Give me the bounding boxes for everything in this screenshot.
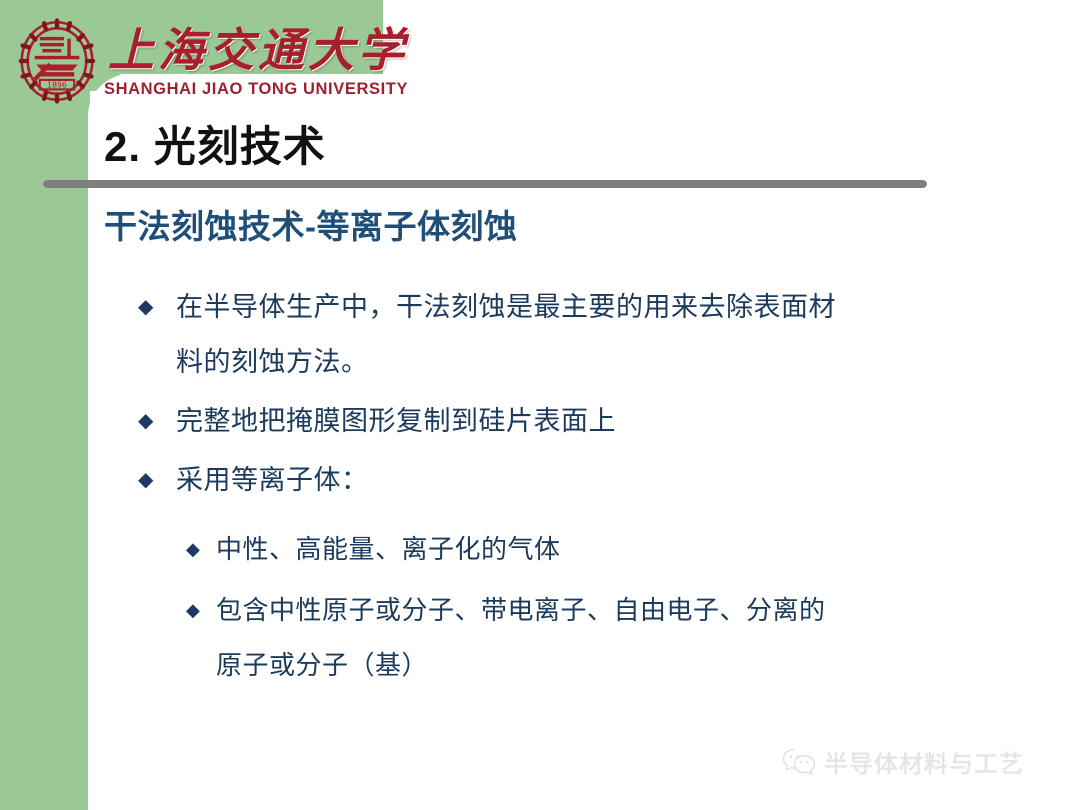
- sjtu-emblem-icon: 1896: [14, 18, 100, 104]
- presentation-slide: 1896 上海交通大学 SHANGHAI JIAO TONG UNIVERSIT…: [0, 0, 1080, 810]
- bullet-diamond-icon: ◆: [138, 394, 154, 449]
- bullet-text-line: 中性、高能量、离子化的气体: [216, 522, 966, 577]
- green-sidebar-band: [0, 0, 90, 810]
- bullet-diamond-icon: ◆: [186, 583, 200, 638]
- bullet-diamond-icon: ◆: [138, 280, 154, 335]
- bullet-item-level-2: ◆包含中性原子或分子、带电离子、自由电子、分离的原子或分子（基）: [186, 583, 966, 693]
- bullet-text-line: 采用等离子体：: [176, 453, 966, 508]
- bullet-text-line: 原子或分子（基）: [216, 638, 966, 693]
- university-name-chinese: 上海交通大学: [108, 16, 383, 84]
- bullet-item-level-1: ◆采用等离子体：: [136, 453, 966, 508]
- page-subtitle: 干法刻蚀技术-等离子体刻蚀: [104, 200, 518, 248]
- page-title: 2. 光刻技术: [104, 113, 326, 174]
- bullet-item-level-1: ◆完整地把掩膜图形复制到硅片表面上: [136, 394, 966, 449]
- title-divider: [43, 180, 927, 188]
- bullet-text-line: 在半导体生产中，干法刻蚀是最主要的用来去除表面材: [176, 280, 966, 335]
- bullet-diamond-icon: ◆: [138, 453, 154, 508]
- university-name-english: SHANGHAI JIAO TONG UNIVERSITY: [104, 80, 408, 99]
- bullet-text-line: 包含中性原子或分子、带电离子、自由电子、分离的: [216, 583, 966, 638]
- watermark-label: 半导体材料与工艺: [824, 744, 1024, 779]
- bullet-text-line: 完整地把掩膜图形复制到硅片表面上: [176, 394, 966, 449]
- wechat-icon: [782, 747, 816, 777]
- sub-bullet-group: ◆中性、高能量、离子化的气体◆包含中性原子或分子、带电离子、自由电子、分离的原子…: [136, 522, 966, 693]
- wechat-watermark: 半导体材料与工艺: [782, 744, 1024, 779]
- bullet-text-line: 料的刻蚀方法。: [176, 335, 966, 390]
- bullet-diamond-icon: ◆: [186, 522, 200, 577]
- bullet-item-level-1: ◆在半导体生产中，干法刻蚀是最主要的用来去除表面材料的刻蚀方法。: [136, 280, 966, 390]
- bullet-item-level-2: ◆中性、高能量、离子化的气体: [186, 522, 966, 577]
- svg-text:1896: 1896: [47, 81, 67, 90]
- bullet-list: ◆在半导体生产中，干法刻蚀是最主要的用来去除表面材料的刻蚀方法。◆完整地把掩膜图…: [136, 280, 966, 699]
